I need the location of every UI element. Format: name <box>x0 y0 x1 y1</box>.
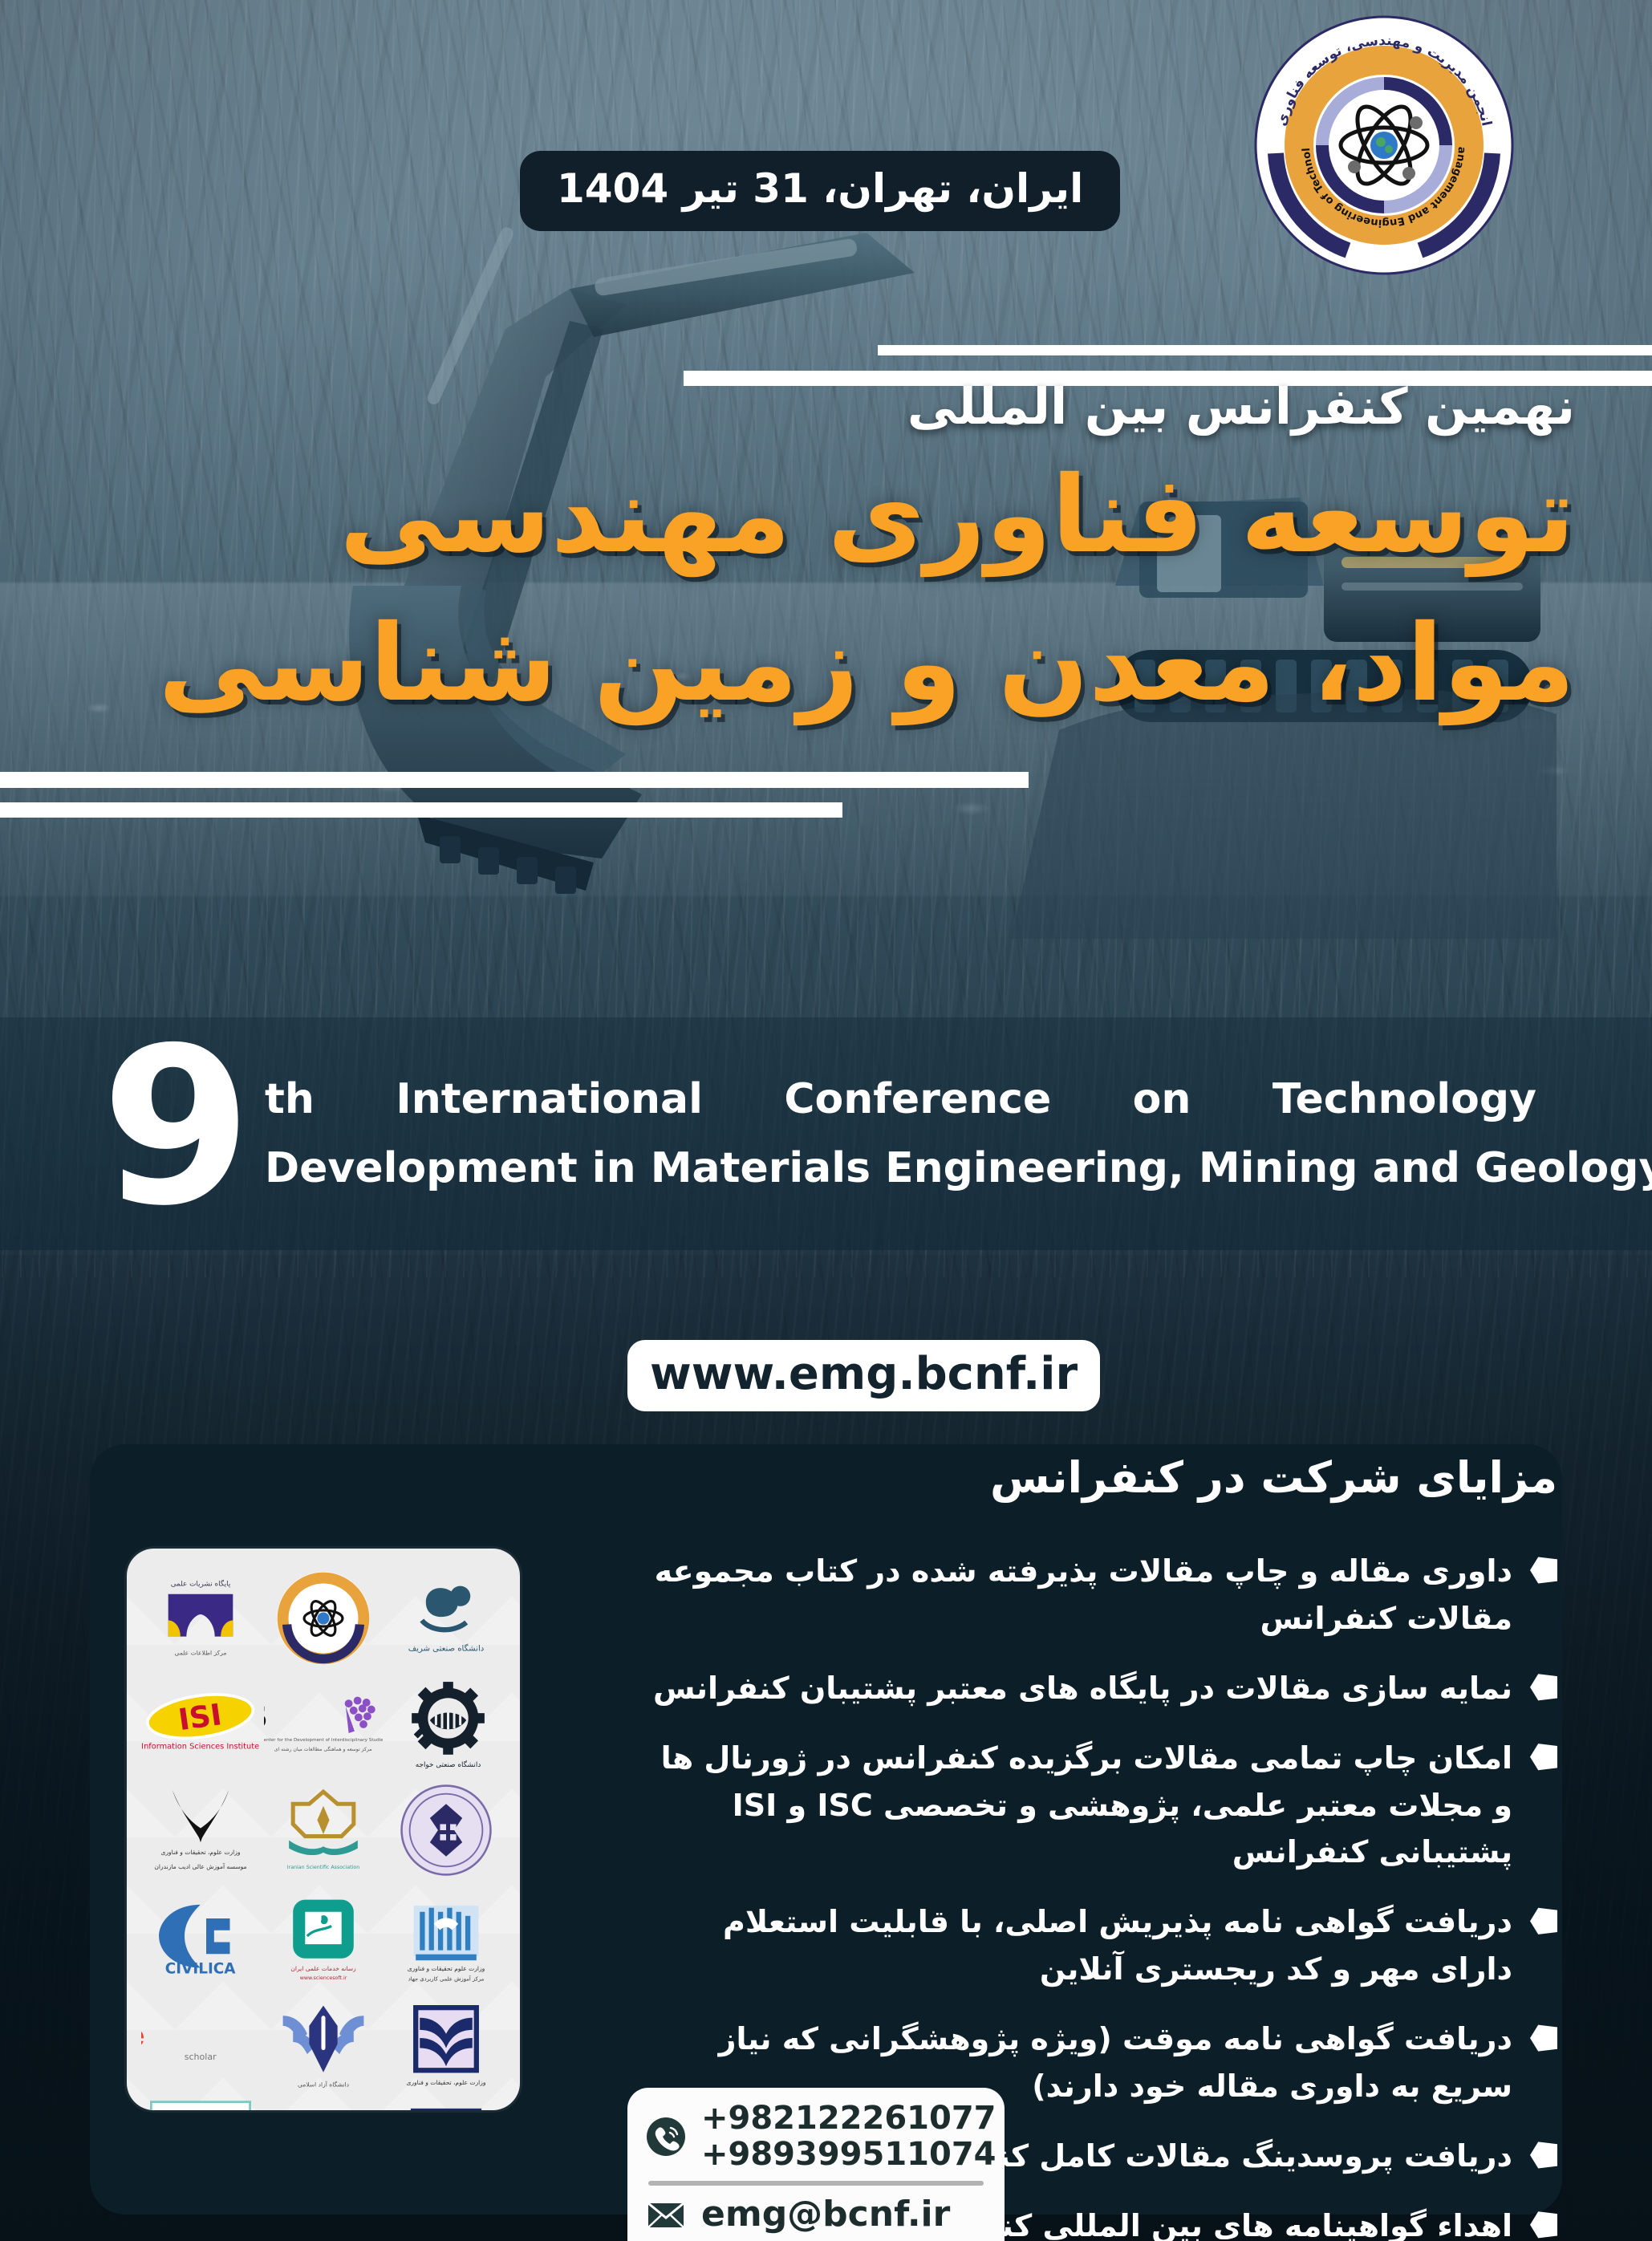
conference-title-line-2: مواد، معدن و زمین شناسی <box>158 602 1575 725</box>
benefit-item: داوری مقاله و چاپ مقالات پذیرفته شده در … <box>643 1548 1557 1642</box>
google-wordmark: Google <box>141 2019 145 2053</box>
benefit-item: نمایه سازی مقالات در پایگاه های معتبر پش… <box>643 1665 1557 1712</box>
isi-wordmark: ISI <box>177 1697 224 1737</box>
benefit-item: امکان چاپ تمامی مقالات برگزیده کنفرانس د… <box>643 1735 1557 1877</box>
benefit-text: دریافت گواهی نامه پذیریش اصلی، با قابلیت… <box>643 1898 1512 1993</box>
website-url-pill[interactable]: www.emg.bcnf.ir <box>627 1340 1100 1411</box>
gold-pen-emblem-logo: Iranian Scientific Association <box>264 1780 382 1881</box>
benefits-heading: مزایای شرکت در کنفرانس <box>643 1452 1557 1503</box>
civilica-logo: CIVILICA <box>141 1886 259 1987</box>
english-word-international: International <box>396 1075 703 1123</box>
english-word-th: th <box>265 1075 315 1123</box>
date-location-badge: ایران، تهران، 31 تیر 1404 <box>520 151 1120 231</box>
english-title-line-2: Development in Materials Engineering, Mi… <box>265 1144 1536 1192</box>
conference-poster: انجمن مدیریت و مهندسی، توسعه فناوری Asso… <box>0 0 1652 2241</box>
google-scholar-subtext: scholar <box>185 2052 217 2062</box>
sharif-university-logo: دانشگاه صنعتی شریف <box>388 1568 505 1669</box>
svg-text:پایگاه نشریات علمی: پایگاه نشریات علمی <box>170 1580 230 1589</box>
svg-text:دانشگاه صنعتی شریف: دانشگاه صنعتی شریف <box>408 1642 485 1653</box>
english-word-on: on <box>1133 1075 1191 1123</box>
svg-text:مرکز اطلاعات علمی: مرکز اطلاعات علمی <box>174 1649 226 1656</box>
email-address[interactable]: emg@bcnf.ir <box>701 2194 950 2235</box>
pentagon-bullet-icon <box>1530 1743 1557 1772</box>
cdis-wordmark: CDIS <box>264 1700 268 1735</box>
svg-text:Center for the Development of: Center for the Development of Interdisci… <box>264 1738 382 1743</box>
cdis-logo: CDIS Center for the Development of Inter… <box>264 1674 382 1775</box>
pentagon-bullet-icon <box>1530 1906 1557 1935</box>
irandoc-logo: وزارت علوم، تحقیقات و فناوری <box>388 1991 505 2093</box>
ministry-science-logo: وزارت علوم، تحقیقات و فناوری موسسه آموزش… <box>141 1780 259 1881</box>
isi-logo: ISI Information Sciences Institute <box>141 1674 259 1775</box>
svg-text:مرکز آموزش علمی کاربردی جهاد: مرکز آموزش علمی کاربردی جهاد <box>408 1975 485 1982</box>
ministry-book-logo: وزارت علوم، تحقیقات و فناوری <box>388 2097 505 2110</box>
phone-icon <box>645 2116 687 2158</box>
sponsor-logos-card: دانشگاه صنعتی شریف <box>127 1549 520 2110</box>
sponsor-logos-grid: دانشگاه صنعتی شریف <box>127 1549 520 2110</box>
scientific-journals-logo: پایگاه نشریات علمی مرکز اطلاعات علمی <box>141 1568 259 1669</box>
pentagon-bullet-icon <box>1530 1556 1557 1585</box>
benefit-text: نمایه سازی مقالات در پایگاه های معتبر پش… <box>643 1665 1512 1712</box>
phone-numbers: +982122261077 +989399511074 <box>701 2101 996 2173</box>
english-title-line-1: th International Conference on Technolog… <box>265 1075 1536 1123</box>
svg-text:Iranian Scientific Association: Iranian Scientific Association <box>287 1865 359 1870</box>
svg-text:www.sciencesoft.ir: www.sciencesoft.ir <box>300 1975 347 1981</box>
contact-card: +982122261077 +989399511074 emg@bcnf.ir <box>627 2088 1005 2241</box>
isi-subtext: Information Sciences Institute <box>141 1743 259 1752</box>
sid-blue-logo: وزارت علوم تحقیقات و فناوری مرکز آموزش ع… <box>388 1886 505 1987</box>
purple-seal-logo <box>388 1780 505 1881</box>
gear-technical-university-logo: دانشگاه صنعتی خواجه <box>388 1674 505 1775</box>
azad-university-logo: دانشگاه آزاد اسلامی <box>264 1991 382 2093</box>
decorative-rule-bottom-1 <box>0 772 1029 788</box>
svg-text:مرکز توسعه و هماهنگی مطالعات م: مرکز توسعه و هماهنگی مطالعات میان رشته ا… <box>274 1746 372 1752</box>
civilica-wordmark: CIVILICA <box>165 1961 237 1975</box>
phone-number-2[interactable]: +989399511074 <box>701 2137 996 2173</box>
envelope-icon <box>645 2194 687 2235</box>
svg-text:وزارت علوم، تحقیقات و فناوری: وزارت علوم، تحقیقات و فناوری <box>407 2079 486 2086</box>
phone-row: +982122261077 +989399511074 <box>645 2101 987 2173</box>
english-word-conference: Conference <box>784 1075 1051 1123</box>
svg-text:وزارت علوم، تحقیقات و فناوری: وزارت علوم، تحقیقات و فناوری <box>160 1849 240 1856</box>
english-title-block: th International Conference on Technolog… <box>265 1075 1536 1192</box>
pentagon-bullet-icon <box>1530 2211 1557 2239</box>
svg-text:موسسه آموزش عالی ادیب مازندران: موسسه آموزش عالی ادیب مازندران <box>154 1862 246 1870</box>
benefit-text: امکان چاپ تمامی مقالات برگزیده کنفرانس د… <box>643 1735 1512 1877</box>
svg-text:دانشگاه صنعتی خواجه: دانشگاه صنعتی خواجه <box>416 1760 481 1769</box>
contact-divider <box>648 2181 984 2186</box>
google-scholar-logo: Google scholar <box>141 1991 259 2093</box>
association-emblem-logo: انجمن مدیریت و مهندسی، توسعه فناوری Asso… <box>1252 13 1516 278</box>
email-row: emg@bcnf.ir <box>645 2194 987 2235</box>
svg-text:رسانه خدمات علمی ایران: رسانه خدمات علمی ایران <box>290 1965 356 1972</box>
pentagon-bullet-icon <box>1530 1673 1557 1702</box>
pentagon-bullet-icon <box>1530 2024 1557 2052</box>
edition-number: 9 <box>101 1019 252 1236</box>
english-word-technology: Technology <box>1272 1075 1536 1123</box>
svg-text:دانشگاه آزاد اسلامی: دانشگاه آزاد اسلامی <box>298 2080 349 2088</box>
benefit-text: داوری مقاله و چاپ مقالات پذیرفته شده در … <box>643 1548 1512 1642</box>
decorative-rule-bottom-2 <box>0 802 842 818</box>
svg-text:وزارت علوم تحقیقات و فناوری: وزارت علوم تحقیقات و فناوری <box>408 1965 485 1972</box>
sciencesoft-book-logo: رسانه خدمات علمی ایران www.sciencesoft.i… <box>264 1886 382 1987</box>
conference-title-line-1: توسعه فناوری مهندسی <box>339 453 1575 577</box>
phone-number-1[interactable]: +982122261077 <box>701 2101 996 2137</box>
conference-pretitle: نهمین کنفرانس بین المللی <box>532 377 1575 436</box>
pentagon-bullet-icon <box>1530 2141 1557 2170</box>
tpbin-logo: TPBIN.com Sponsored And Indexed <box>141 2097 259 2110</box>
decorative-rule-top-1 <box>878 345 1652 355</box>
ametd-association-logo <box>264 1568 382 1669</box>
benefit-item: دریافت گواهی نامه پذیریش اصلی، با قابلیت… <box>643 1898 1557 1993</box>
blank-logo <box>264 2097 382 2110</box>
